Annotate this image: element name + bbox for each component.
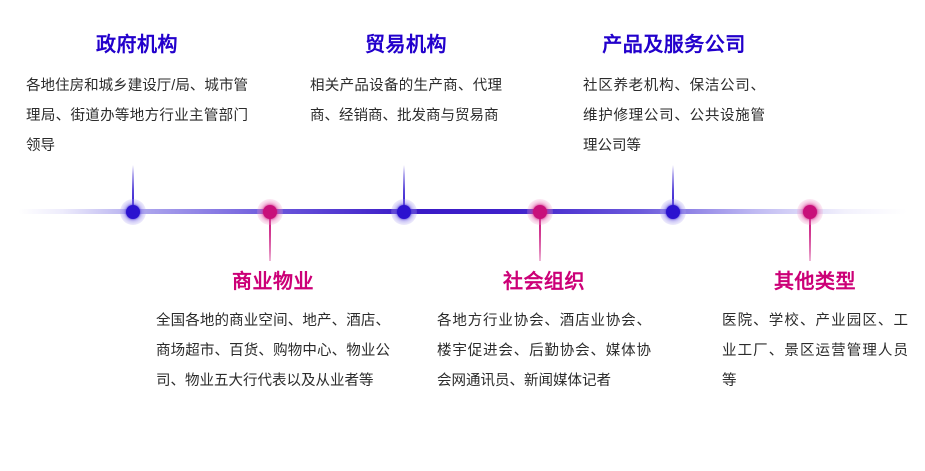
group-description-government: 各地住房和城乡建设厅/局、城市管理局、街道办等地方行业主管部门领导 bbox=[26, 69, 248, 161]
node-core-icon bbox=[397, 205, 411, 219]
group-block-product-service: 产品及服务公司 社区养老机构、保洁公司、维护修理公司、公共设施管理公司等 bbox=[583, 28, 765, 161]
group-description-commercial-property: 全国各地的商业空间、地产、酒店、商场超市、百货、购物中心、物业公司、物业五大行代… bbox=[156, 306, 390, 396]
infographic-stage: 政府机构 各地住房和城乡建设厅/局、城市管理局、街道办等地方行业主管部门领导 贸… bbox=[0, 0, 925, 471]
group-block-government: 政府机构 各地住房和城乡建设厅/局、城市管理局、街道办等地方行业主管部门领导 bbox=[26, 28, 248, 161]
group-block-trade: 贸易机构 相关产品设备的生产商、代理商、经销商、批发商与贸易商 bbox=[310, 28, 502, 131]
node-core-icon bbox=[126, 205, 140, 219]
group-heading-social-organization: 社会组织 bbox=[437, 265, 651, 294]
group-block-commercial-property: 商业物业 全国各地的商业空间、地产、酒店、商场超市、百货、购物中心、物业公司、物… bbox=[156, 265, 390, 396]
group-description-product-service: 社区养老机构、保洁公司、维护修理公司、公共设施管理公司等 bbox=[583, 69, 765, 161]
node-core-icon bbox=[263, 205, 277, 219]
node-core-icon bbox=[533, 205, 547, 219]
group-block-social-organization: 社会组织 各地方行业协会、酒店业协会、楼宇促进会、后勤协会、媒体协会网通讯员、新… bbox=[437, 265, 651, 396]
timeline-axis-line bbox=[18, 209, 907, 214]
group-description-trade: 相关产品设备的生产商、代理商、经销商、批发商与贸易商 bbox=[310, 69, 502, 131]
group-heading-other-types: 其他类型 bbox=[722, 265, 908, 294]
group-description-other-types: 医院、学校、产业园区、工业工厂、景区运营管理人员等 bbox=[722, 306, 908, 396]
node-core-icon bbox=[803, 205, 817, 219]
group-heading-product-service: 产品及服务公司 bbox=[583, 28, 765, 57]
node-core-icon bbox=[666, 205, 680, 219]
group-heading-trade: 贸易机构 bbox=[310, 28, 502, 57]
group-block-other-types: 其他类型 医院、学校、产业园区、工业工厂、景区运营管理人员等 bbox=[722, 265, 908, 396]
group-heading-government: 政府机构 bbox=[26, 28, 248, 57]
group-heading-commercial-property: 商业物业 bbox=[156, 265, 390, 294]
group-description-social-organization: 各地方行业协会、酒店业协会、楼宇促进会、后勤协会、媒体协会网通讯员、新闻媒体记者 bbox=[437, 306, 651, 396]
